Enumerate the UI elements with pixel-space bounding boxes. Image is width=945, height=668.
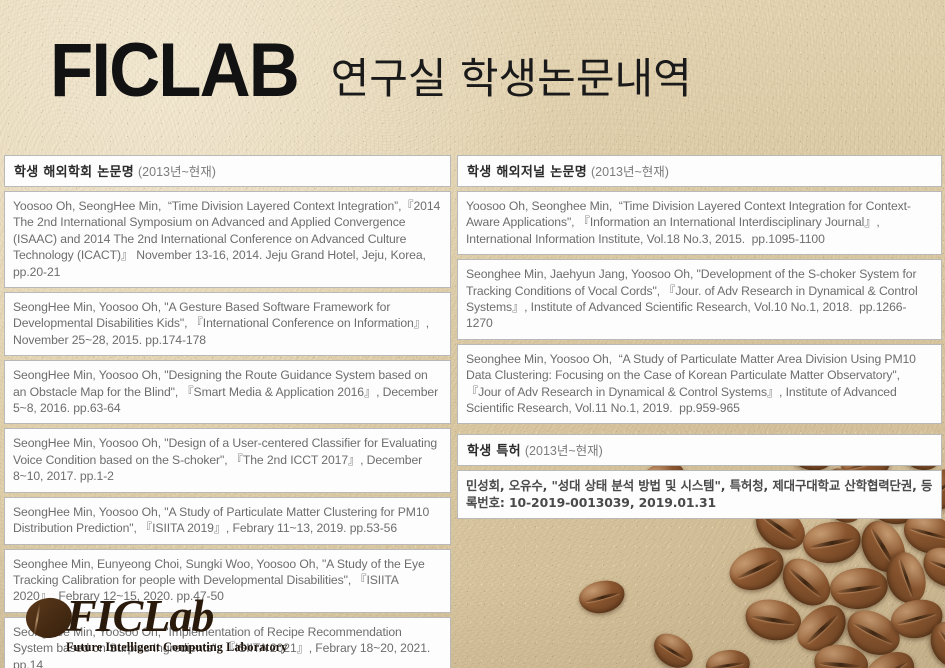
coffee-bean-icon	[800, 518, 863, 567]
slide-canvas: FICLAB 연구실 학생논문내역 학생 해외학회 논문명(2013년~현재) …	[0, 0, 945, 668]
coffee-bean-icon	[576, 577, 628, 618]
section-period-conference: (2013년~현재)	[138, 165, 216, 179]
journal-and-patent-column: 학생 해외저널 논문명(2013년~현재) Yoosoo Oh, Seonghe…	[457, 155, 942, 523]
conference-entry-text: SeongHee Min, Yoosoo Oh, "A Study of Par…	[13, 504, 442, 537]
conference-entry-text: Yoosoo Oh, SeongHee Min, “Time Division …	[13, 198, 442, 280]
conference-entry-text: SeongHee Min, Yoosoo Oh, "Design of a Us…	[13, 435, 442, 484]
section-title-conference: 학생 해외학회 논문명	[14, 165, 134, 180]
logo-tagline: Future Intelligent Computing Laboratory	[66, 640, 287, 655]
section-period-patent: (2013년~현재)	[525, 444, 603, 458]
journal-entry-text: Yoosoo Oh, Seonghee Min, “Time Division …	[466, 198, 933, 247]
journal-entry-text: Seonghee Min, Jaehyun Jang, Yoosoo Oh, "…	[466, 266, 933, 332]
section-header-conference: 학생 해외학회 논문명(2013년~현재)	[4, 155, 451, 187]
section-title-journal: 학생 해외저널 논문명	[467, 165, 587, 180]
list-item: SeongHee Min, Yoosoo Oh, "Design of a Us…	[4, 428, 451, 492]
coffee-bean-icon	[828, 565, 889, 611]
list-item: 민성회, 오유수, "성대 상태 분석 방법 및 시스템", 특허청, 제대구대…	[457, 470, 942, 519]
list-item: SeongHee Min, Yoosoo Oh, "A Gesture Base…	[4, 292, 451, 356]
logo-wordmark: FICLab	[66, 593, 213, 639]
ficlab-logo: FICLab Future Intelligent Computing Labo…	[26, 596, 276, 658]
list-item: SeongHee Min, Yoosoo Oh, "A Study of Par…	[4, 497, 451, 545]
section-header-journal: 학생 해외저널 논문명(2013년~현재)	[457, 155, 942, 187]
list-item: Yoosoo Oh, Seonghee Min, “Time Division …	[457, 191, 942, 255]
list-item: Seonghee Min, Jaehyun Jang, Yoosoo Oh, "…	[457, 259, 942, 340]
patent-entry-text: 민성회, 오유수, "성대 상태 분석 방법 및 시스템", 특허청, 제대구대…	[466, 477, 933, 511]
list-item: Seonghee Min, Yoosoo Oh, “A Study of Par…	[457, 344, 942, 425]
conference-entry-text: SeongHee Min, Yoosoo Oh, "Designing the …	[13, 367, 442, 416]
journal-entry-text: Seonghee Min, Yoosoo Oh, “A Study of Par…	[466, 351, 933, 417]
page-subtitle: 연구실 학생논문내역	[331, 58, 692, 106]
conference-entry-text: SeongHee Min, Yoosoo Oh, "A Gesture Base…	[13, 299, 442, 348]
list-item: Yoosoo Oh, SeongHee Min, “Time Division …	[4, 191, 451, 288]
page-title: FICLAB 연구실 학생논문내역	[50, 36, 692, 106]
coffee-bean-icon	[741, 594, 804, 645]
brand-wordmark: FICLAB	[50, 36, 298, 106]
coffee-bean-icon	[648, 627, 700, 668]
section-title-patent: 학생 특허	[467, 444, 521, 459]
list-item: SeongHee Min, Yoosoo Oh, "Designing the …	[4, 360, 451, 424]
section-header-patent: 학생 특허(2013년~현재)	[457, 434, 942, 466]
section-period-journal: (2013년~현재)	[591, 165, 669, 179]
coffee-bean-icon	[705, 648, 752, 668]
